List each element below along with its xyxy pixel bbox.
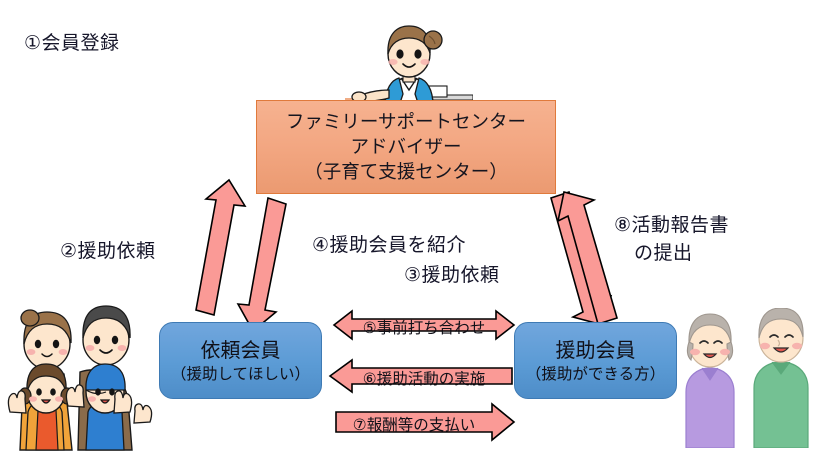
box-supporter-member[interactable]: 援助会員 （援助ができる方） — [514, 322, 677, 399]
requester-subtitle: （援助してほしい） — [171, 363, 310, 385]
center-box-line2: アドバイザー — [350, 135, 461, 160]
label-step8-line2: の提出 — [634, 240, 693, 266]
supporter-title: 援助会員 — [556, 337, 636, 363]
box-requester-member[interactable]: 依頼会員 （援助してほしい） — [159, 322, 322, 399]
label-step1: ①会員登録 — [24, 30, 120, 56]
requester-title: 依頼会員 — [201, 337, 281, 363]
center-box-line1: ファミリーサポートセンター — [286, 110, 526, 135]
arrow-step4-down — [238, 198, 286, 331]
supporter-subtitle: （援助ができる方） — [526, 363, 665, 385]
label-step4: ④援助会員を紹介 — [312, 232, 466, 258]
center-box-line3: （子育て支援センター） — [304, 160, 508, 185]
label-step6: ⑥援助活動の実施 — [344, 367, 504, 389]
arrow-step8-up — [558, 192, 617, 324]
label-step2: ②援助依頼 — [60, 238, 156, 264]
label-step8-line1: ⑧活動報告書 — [614, 212, 729, 238]
family-illustration — [2, 300, 160, 455]
arrow-step3-down — [551, 192, 611, 325]
label-step3: ③援助依頼 — [404, 262, 500, 288]
elderly-couple-illustration — [672, 308, 818, 448]
label-step7: ⑦報酬等の支払い — [339, 413, 489, 435]
diagram-canvas: ファミリーサポートセンター アドバイザー （子育て支援センター） — [0, 0, 818, 457]
arrow-step2-up — [196, 180, 245, 315]
advisor-illustration — [345, 18, 473, 110]
label-step5: ⑤事前打ち合わせ — [349, 316, 499, 338]
center-box-family-support-center[interactable]: ファミリーサポートセンター アドバイザー （子育て支援センター） — [256, 100, 556, 194]
